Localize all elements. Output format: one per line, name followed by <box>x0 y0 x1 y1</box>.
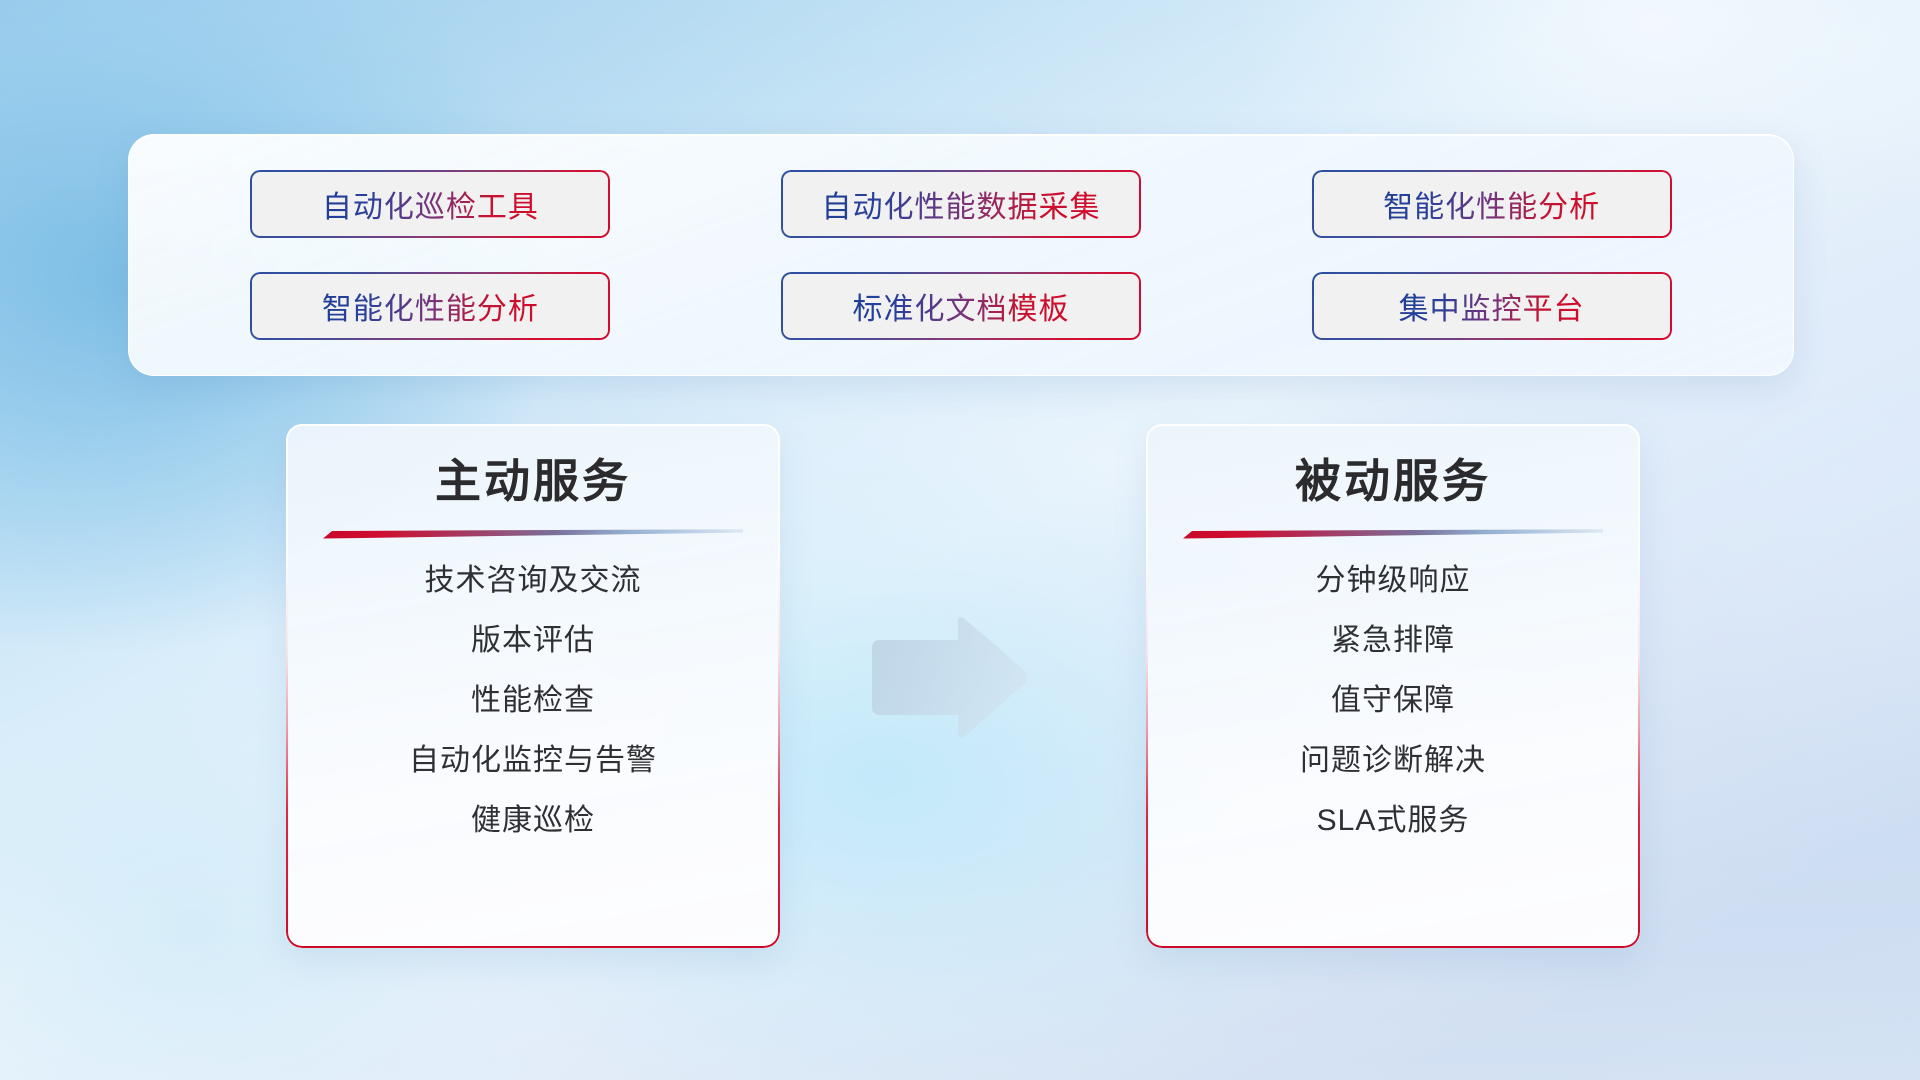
list-item: 版本评估 <box>471 623 595 659</box>
capability-pill-grid: 自动化巡检工具 自动化性能数据采集 智能化性能分析 智能化性能分析 标准化文档模… <box>129 135 1793 375</box>
list-item: 自动化监控与告警 <box>409 743 657 779</box>
capability-pill-1[interactable]: 自动化巡检工具 <box>250 170 610 238</box>
capability-pill-2[interactable]: 自动化性能数据采集 <box>781 170 1141 238</box>
card-divider <box>1183 529 1603 539</box>
capability-pill-3[interactable]: 智能化性能分析 <box>1312 170 1672 238</box>
list-item: 值守保障 <box>1331 683 1455 719</box>
capability-pill-label: 智能化性能分析 <box>322 284 539 328</box>
service-card-body: 被动服务 <box>1146 424 1640 948</box>
service-card-active: 主动服务 <box>286 424 780 948</box>
card-divider <box>323 529 743 539</box>
right-arrow-icon <box>866 616 1030 740</box>
capability-pill-label: 自动化巡检工具 <box>322 182 539 226</box>
list-item: 分钟级响应 <box>1316 563 1471 599</box>
capability-pill-label: 集中监控平台 <box>1399 284 1585 328</box>
list-item: 紧急排障 <box>1331 623 1455 659</box>
list-item: 技术咨询及交流 <box>425 563 642 599</box>
service-card-title: 被动服务 <box>1295 456 1491 507</box>
service-card-body: 主动服务 <box>286 424 780 948</box>
capability-pill-label: 自动化性能数据采集 <box>821 182 1100 226</box>
diagram-canvas: 自动化巡检工具 自动化性能数据采集 智能化性能分析 智能化性能分析 标准化文档模… <box>0 0 1920 1080</box>
capability-pill-6[interactable]: 集中监控平台 <box>1312 272 1672 340</box>
service-card-list: 技术咨询及交流 版本评估 性能检查 自动化监控与告警 健康巡检 <box>286 563 780 839</box>
list-item: SLA式服务 <box>1317 803 1470 839</box>
capability-pill-label: 标准化文档模板 <box>852 284 1069 328</box>
service-card-list: 分钟级响应 紧急排障 值守保障 问题诊断解决 SLA式服务 <box>1146 563 1640 839</box>
list-item: 性能检查 <box>471 683 595 719</box>
service-card-title: 主动服务 <box>435 456 631 507</box>
capability-panel: 自动化巡检工具 自动化性能数据采集 智能化性能分析 智能化性能分析 标准化文档模… <box>128 134 1794 376</box>
list-item: 健康巡检 <box>471 803 595 839</box>
capability-pill-4[interactable]: 智能化性能分析 <box>250 272 610 340</box>
list-item: 问题诊断解决 <box>1300 743 1486 779</box>
service-card-passive: 被动服务 <box>1146 424 1640 948</box>
capability-pill-5[interactable]: 标准化文档模板 <box>781 272 1141 340</box>
capability-pill-label: 智能化性能分析 <box>1383 182 1600 226</box>
